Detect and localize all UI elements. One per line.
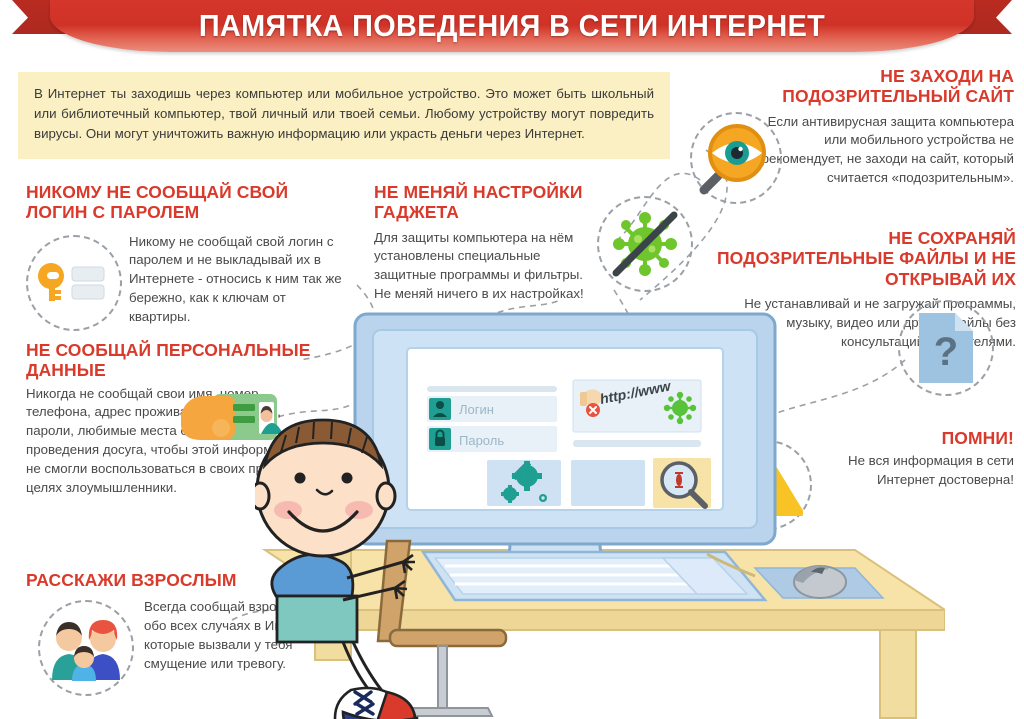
key-icon (26, 235, 122, 331)
intro-paragraph: В Интернет ты заходишь через компьютер и… (18, 72, 670, 159)
mouse (794, 566, 846, 598)
sneaker (335, 688, 417, 719)
page-title: ПАМЯТКА ПОВЕДЕНИЯ В СЕТИ ИНТЕРНЕТ (36, 0, 988, 52)
eye-magnifier-icon (690, 112, 782, 204)
screen-tile-blank (571, 460, 645, 506)
block-gadget-settings-text: Для защиты компьютера на нём установлены… (374, 229, 602, 305)
block-suspicious-site-text: Если антивирусная защита компьютера или … (746, 113, 1014, 189)
screen-login-label: Логин (459, 402, 494, 417)
block-suspicious-files-heading: НЕ СОХРАНЯЙ ПОДОЗРИТЕЛЬНЫЕ ФАЙЛЫ И НЕ ОТ… (716, 228, 1016, 289)
family-icon (38, 600, 134, 696)
block-gadget-settings: НЕ МЕНЯЙ НАСТРОЙКИ ГАДЖЕТА Для защиты ко… (374, 182, 604, 304)
block-suspicious-site: НЕ ЗАХОДИ НА ПОДОЗРИТЕЛЬНЫЙ САЙТ Если ан… (746, 66, 1014, 188)
banner: ПАМЯТКА ПОВЕДЕНИЯ В СЕТИ ИНТЕРНЕТ (0, 0, 1024, 62)
block-suspicious-site-heading: НЕ ЗАХОДИ НА ПОДОЗРИТЕЛЬНЫЙ САЙТ (746, 66, 1014, 107)
screen-password-label: Пароль (459, 433, 504, 448)
infographic-poster: ПАМЯТКА ПОВЕДЕНИЯ В СЕТИ ИНТЕРНЕТ В Инте… (0, 0, 1024, 719)
block-login-password-heading: НИКОМУ НЕ СООБЩАЙ СВОЙ ЛОГИН С ПАРОЛЕМ (26, 182, 346, 223)
virus-blocked-icon (597, 196, 693, 292)
scene-illustration: Логин Пароль http://www (255, 300, 945, 719)
monitor (355, 314, 775, 584)
block-gadget-settings-heading: НЕ МЕНЯЙ НАСТРОЙКИ ГАДЖЕТА (374, 182, 604, 223)
